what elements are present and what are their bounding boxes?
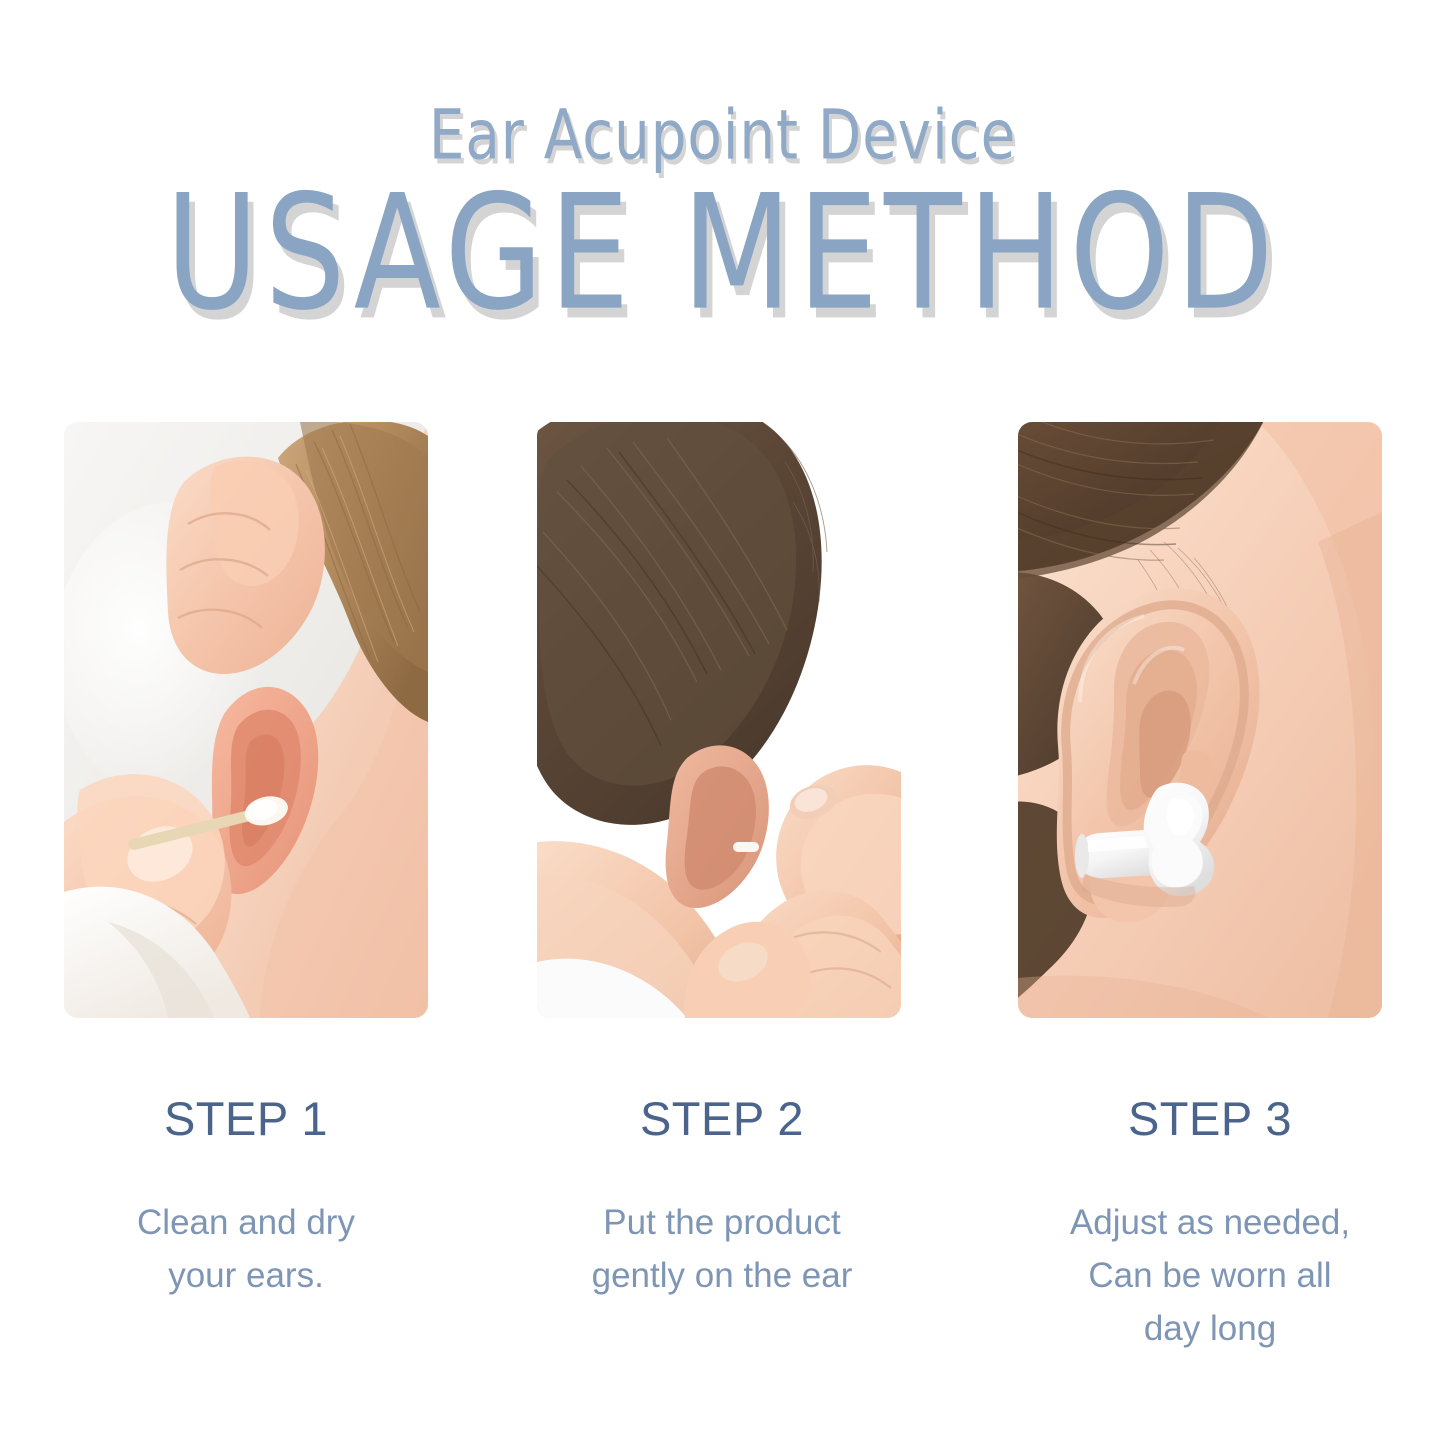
infographic-page: Ear Acupoint Device USAGE METHOD (0, 0, 1445, 1445)
step-3-description: Adjust as needed, Can be worn all day lo… (1000, 1196, 1420, 1355)
page-title-text: USAGE METHOD (165, 160, 1279, 345)
step-2-title: STEP 2 (512, 1090, 932, 1148)
step-2-illustration (537, 422, 901, 1018)
step-2-description: Put the product gently on the ear (512, 1196, 932, 1302)
caption-row: STEP 1 Clean and dry your ears. STEP 2 P… (0, 1090, 1445, 1420)
step-1-photo (64, 422, 428, 1018)
step-1-description: Clean and dry your ears. (36, 1196, 456, 1302)
step-2-caption: STEP 2 Put the product gently on the ear (512, 1090, 932, 1302)
step-3-illustration (1018, 422, 1382, 1018)
step-1-caption: STEP 1 Clean and dry your ears. (36, 1090, 456, 1302)
step-1-illustration (64, 422, 428, 1018)
step-1-title: STEP 1 (36, 1090, 456, 1148)
step-3-photo (1018, 422, 1382, 1018)
step-3-title: STEP 3 (1000, 1090, 1420, 1148)
step-2-photo (537, 422, 901, 1018)
step-3-caption: STEP 3 Adjust as needed, Can be worn all… (1000, 1090, 1420, 1355)
page-title: USAGE METHOD (14, 160, 1430, 345)
photo-row (64, 422, 1384, 1018)
